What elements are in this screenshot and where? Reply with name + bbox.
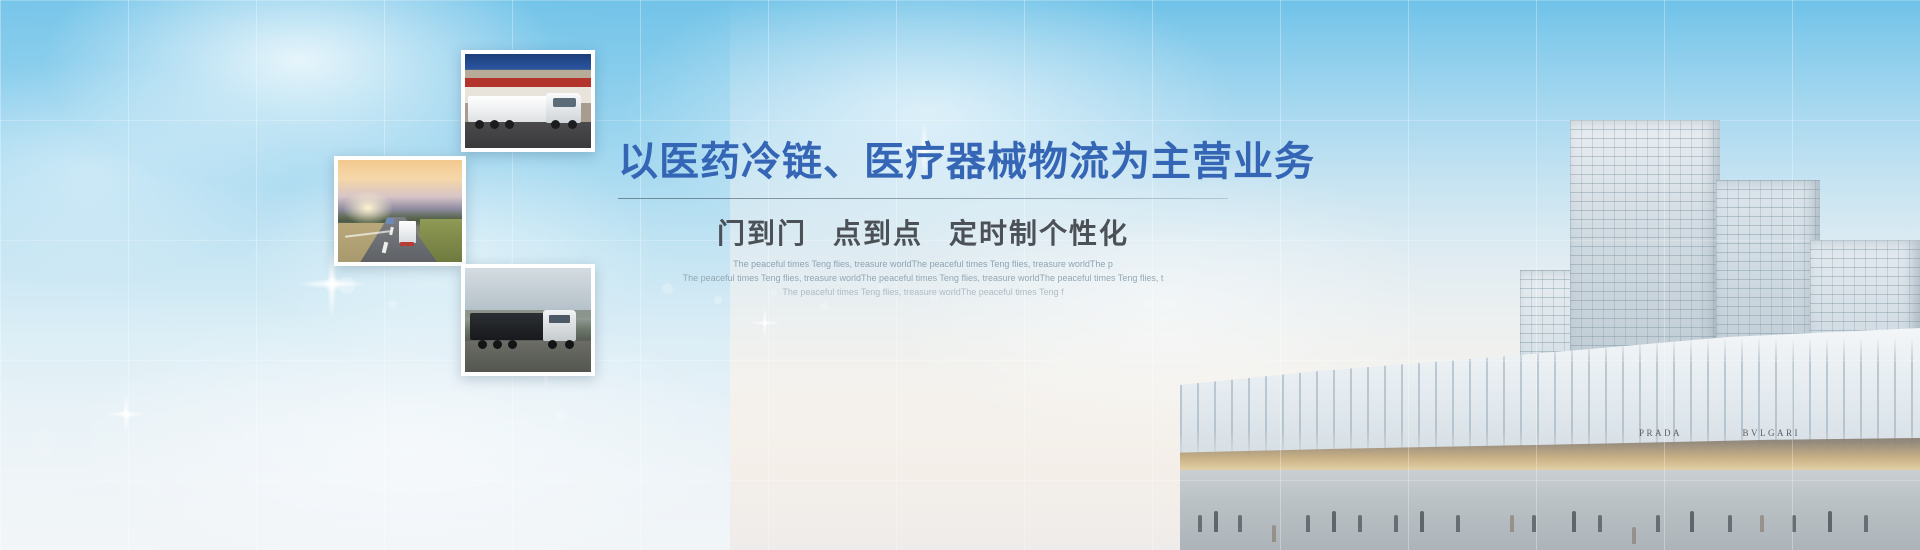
- banner-subline: 门到门点到点定时制个性化: [618, 212, 1228, 252]
- photo-dark-truck: [465, 268, 591, 372]
- blurb-line-1: The peaceful times Teng flies, treasure …: [618, 258, 1228, 272]
- photo-card-dark-truck[interactable]: [461, 264, 595, 376]
- photo-sunset-highway: [338, 160, 462, 262]
- subline-part-1: 门到门: [717, 217, 807, 250]
- divider-rule: [618, 198, 1228, 199]
- banner-headline: 以医药冷链、医疗器械物流为主营业务: [618, 140, 1228, 185]
- subline-part-2: 点到点: [833, 217, 923, 250]
- photo-warehouse-truck: [465, 54, 591, 148]
- photo-card-warehouse-truck[interactable]: [461, 50, 595, 152]
- banner-blurb: The peaceful times Teng flies, treasure …: [618, 258, 1228, 300]
- hero-banner: PRADA BVLGARI: [0, 0, 1920, 550]
- banner-text-block: 以医药冷链、医疗器械物流为主营业务 门到门点到点定时制个性化 The peace…: [618, 140, 1228, 300]
- blurb-line-3: The peaceful times Teng flies, treasure …: [618, 286, 1228, 300]
- subline-part-3: 定时制个性化: [949, 217, 1129, 250]
- blurb-line-2: The peaceful times Teng flies, treasure …: [618, 272, 1228, 286]
- photo-card-sunset-highway[interactable]: [334, 156, 466, 266]
